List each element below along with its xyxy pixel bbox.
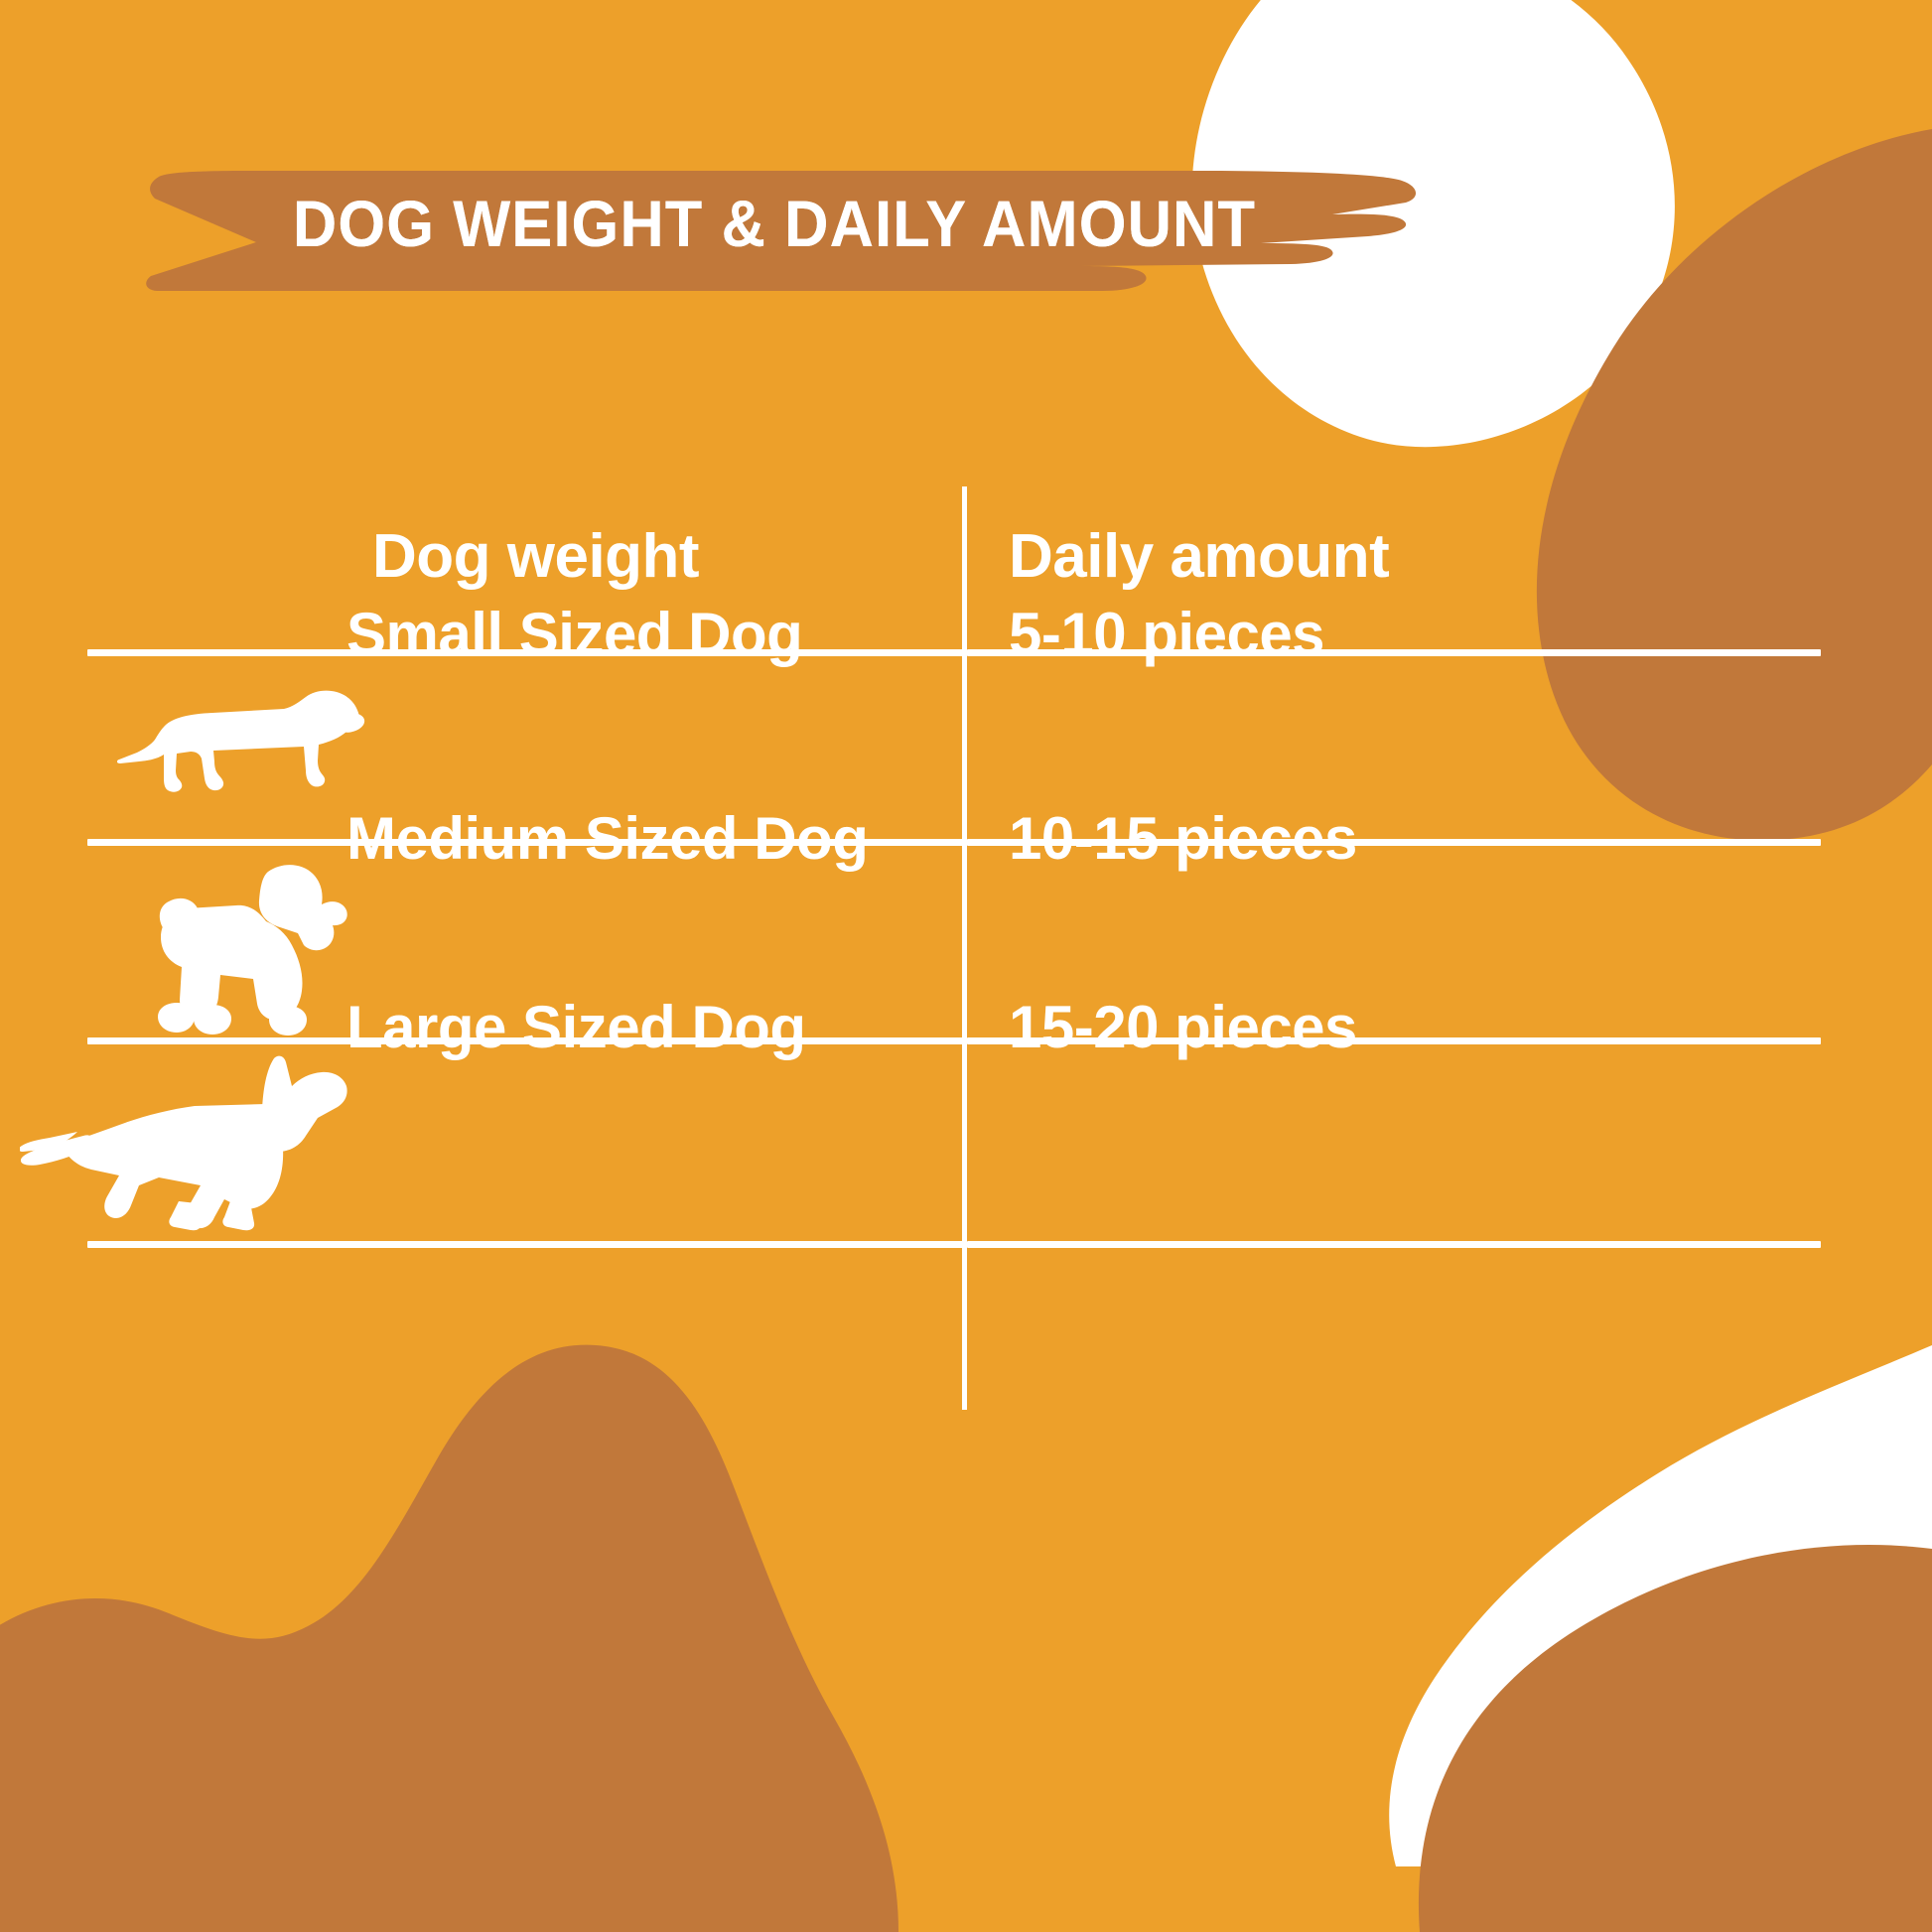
title-banner: DOG WEIGHT & DAILY AMOUNT [129,157,1420,291]
column-header-daily-amount: Daily amount [1009,521,1389,592]
cell-dog-weight-small: Small Sized Dog [346,600,802,668]
dachshund-silhouette-icon [117,683,365,812]
row3-rule-left [87,1241,963,1248]
cell-daily-amount-medium: 10-15 pieces [1009,804,1357,873]
bottom-left-brown-blob [0,1345,898,1932]
column-header-dog-weight: Dog weight [372,521,699,592]
cell-dog-weight-large: Large Sized Dog [346,993,806,1061]
poodle-silhouette-icon [117,864,350,1037]
page-title: DOG WEIGHT & DAILY AMOUNT [175,171,1375,276]
cell-dog-weight-medium: Medium Sized Dog [346,804,868,873]
cell-daily-amount-small: 5-10 pieces [1009,600,1324,668]
german-shepherd-silhouette-icon [20,1052,347,1231]
column-divider [962,486,967,1410]
infographic-canvas: DOG WEIGHT & DAILY AMOUNT Dog weight Dai… [0,0,1932,1932]
bottom-right-brown-blob [1419,1545,1932,1932]
dog-feeding-table: Dog weight Daily amount Small Sized Dog … [0,486,1932,1410]
row3-rule-right [967,1241,1821,1248]
cell-daily-amount-large: 15-20 pieces [1009,993,1357,1061]
bottom-right-white-blob [1389,1345,1932,1866]
